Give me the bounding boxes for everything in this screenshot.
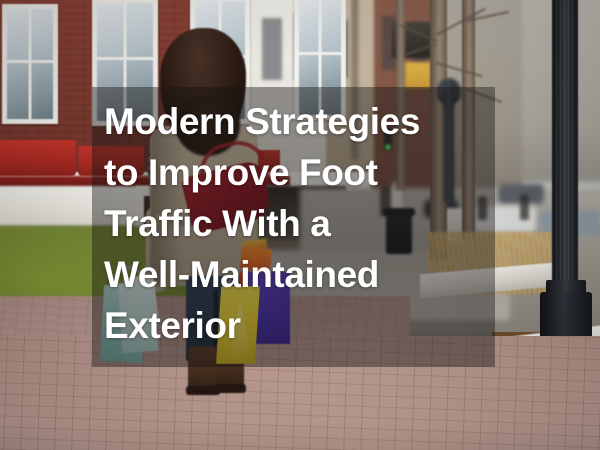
- boot-sole: [214, 384, 246, 393]
- hero-banner: Modern Strategies to Improve Foot Traffi…: [0, 0, 600, 450]
- page-title: Modern Strategies to Improve Foot Traffi…: [104, 96, 504, 351]
